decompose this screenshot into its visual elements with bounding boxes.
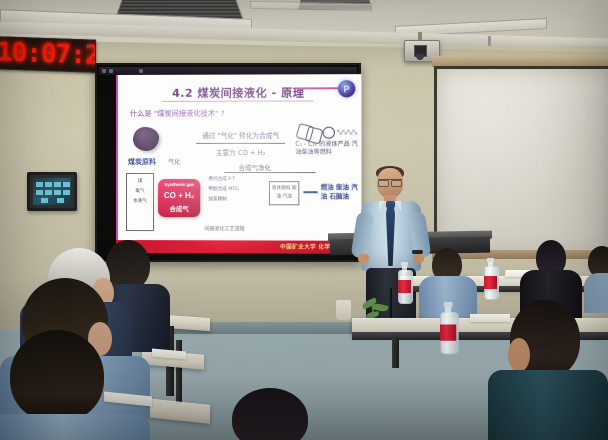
- process-row: 甲醇合成 MTG: [208, 185, 271, 195]
- slide-input-box: 煤 氧气 水蒸气: [126, 173, 154, 231]
- bottle-cap: [487, 258, 494, 262]
- paper-cup: [336, 300, 351, 320]
- av-panel-button[interactable]: [36, 190, 43, 195]
- av-panel-button[interactable]: [45, 182, 52, 187]
- slide-equation: 通过 "气化" 转化为合成气 主要为 CO + H₂: [194, 130, 287, 157]
- slide-horizontal-rule: [224, 172, 315, 173]
- glasses-icon: [378, 179, 402, 185]
- av-panel-button[interactable]: [57, 198, 64, 203]
- desk-leg: [392, 338, 399, 368]
- slide-logo-bar: [295, 87, 338, 89]
- attendee-front-left: [0, 330, 140, 440]
- presentation-slide: 4.2 煤炭间接液化 - 原理 P 什么是 "煤炭间接液化技术" ? 通过 "气…: [116, 74, 361, 254]
- whiteboard-glare: [437, 69, 608, 254]
- bottle-cap: [401, 262, 408, 266]
- projection-screen: 4.2 煤炭间接液化 - 原理 P 什么是 "煤炭间接液化技术" ? 通过 "气…: [95, 63, 361, 262]
- av-panel-button[interactable]: [54, 190, 61, 195]
- slide-accent-edge: [116, 75, 118, 253]
- taskbar-icon: [109, 69, 113, 73]
- alkane-chain-icon: [337, 129, 357, 136]
- bottle-neck: [402, 265, 407, 272]
- led-clock-panel: 10:07:26: [0, 36, 96, 73]
- taskbar-icon: [139, 69, 143, 73]
- whiteboard: [434, 66, 608, 257]
- slide-title-rule: [162, 100, 314, 101]
- av-panel-button[interactable]: [36, 182, 43, 187]
- process-row: 加氢精制: [208, 195, 271, 205]
- led-clock-time: 10:07:26: [0, 38, 96, 71]
- structures-caption: C₁ - C₂₀ 的液体产品 汽油柴油等燃料: [295, 141, 358, 157]
- wall-av-control-panel[interactable]: [27, 172, 77, 211]
- shirt-collar-right: [395, 201, 401, 211]
- attendee-ear: [508, 338, 530, 372]
- attendee-hair: [232, 388, 308, 440]
- syngas-label-en: Synthesis gas: [158, 183, 200, 188]
- attendee-torso: [0, 414, 150, 440]
- slide-label-syngas: 合成气净化: [239, 163, 271, 172]
- bottle-label: [398, 280, 411, 293]
- equation-denominator: 主要为 CO + H₂: [194, 147, 287, 157]
- av-panel-screen[interactable]: [33, 178, 71, 205]
- input-row: 煤: [127, 174, 153, 184]
- bottle-neck: [488, 261, 493, 268]
- coal-lump-illustration: [133, 127, 159, 151]
- bottle-label: [440, 325, 456, 341]
- slide-process-chain: 费托合成 F-T 甲醇合成 MTG 加氢精制: [208, 175, 271, 205]
- desk-paper: [470, 314, 510, 322]
- slide-label-gasify: 气化: [168, 157, 180, 166]
- av-panel-button[interactable]: [63, 190, 70, 195]
- presenter-hand-left: [358, 254, 369, 263]
- syngas-formula: CO + H₂: [158, 191, 200, 200]
- glasses-lens-right: [391, 180, 402, 187]
- arrow-right-icon: [303, 191, 317, 193]
- slide-question-text: 什么是 "煤炭间接液化技术" ?: [130, 109, 225, 119]
- slide-label-coal: 煤炭原料: [128, 157, 156, 167]
- slide-footnote: 间接液化工艺流程: [204, 225, 244, 232]
- ring-structure-icon: [323, 127, 335, 139]
- slide-logo-icon: P: [338, 80, 355, 97]
- desk-leg: [176, 340, 182, 404]
- attendee-torso: [488, 370, 608, 440]
- bottle-cap: [444, 302, 453, 307]
- ceiling-light-fixture: [250, 1, 372, 11]
- av-panel-button[interactable]: [63, 182, 70, 187]
- glasses-lens-left: [378, 180, 389, 187]
- input-row: 氧气: [127, 184, 153, 194]
- av-panel-button[interactable]: [45, 190, 52, 195]
- attendee-right-rear: [222, 388, 342, 440]
- lecture-hall-scene: 10:07:26: [0, 0, 608, 440]
- taskbar-icon: [102, 69, 106, 73]
- av-panel-button[interactable]: [41, 198, 48, 203]
- syngas-label-zh: 合成气: [158, 204, 200, 213]
- shirt-collar-left: [379, 201, 385, 211]
- syngas-highlight-box: Synthesis gas CO + H₂ 合成气: [158, 179, 200, 217]
- slide-product-box: 液体燃料 柴油 汽油: [269, 181, 299, 205]
- slide-final-label: 燃油 柴油 汽油 石脑油: [321, 183, 360, 201]
- equation-numerator: 通过 "气化" 转化为合成气: [194, 130, 287, 140]
- projector-lens-hood: [416, 54, 424, 60]
- process-row: 费托合成 F-T: [208, 175, 271, 185]
- equation-divider: [196, 143, 285, 144]
- bottle-neck: [445, 306, 451, 315]
- bottle-label: [484, 276, 497, 289]
- led-status-dot: [87, 44, 90, 47]
- attendee-hair: [10, 330, 104, 422]
- av-panel-button[interactable]: [54, 182, 61, 187]
- input-row: 水蒸气: [127, 194, 153, 204]
- attendee-far-right: [584, 246, 608, 306]
